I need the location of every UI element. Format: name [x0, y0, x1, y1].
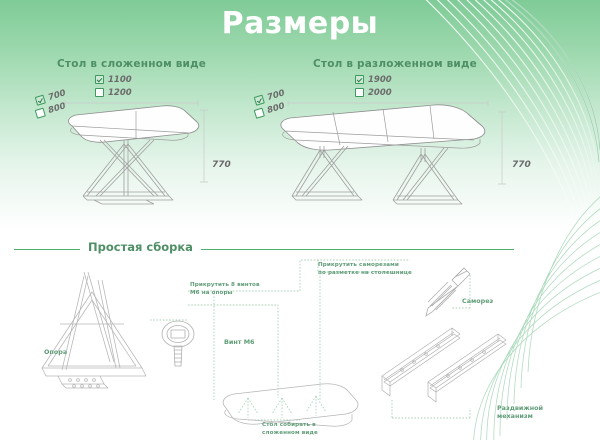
- note-self-tapping: Прикрутить саморезамипо разметке на стол…: [318, 261, 412, 277]
- option-row[interactable]: 1100: [95, 74, 132, 85]
- option-value: 1900: [368, 75, 392, 85]
- checkbox-unchecked-icon[interactable]: [95, 88, 104, 97]
- panel-heading-folded: Стол в сложенном виде: [57, 58, 206, 70]
- option-value: 2000: [368, 88, 392, 98]
- option-row[interactable]: 2000: [355, 87, 392, 98]
- panel-heading-unfolded: Стол в разложенном виде: [313, 58, 477, 70]
- option-row[interactable]: 1200: [95, 87, 132, 98]
- option-row[interactable]: 1900: [355, 74, 392, 85]
- option-value: 1100: [108, 75, 132, 85]
- note-screws: Прикрутить 8 винтовМ6 на опоры: [190, 281, 260, 297]
- width-options-unfolded[interactable]: 1900 2000: [355, 74, 392, 100]
- checkbox-unchecked-icon[interactable]: [355, 88, 364, 97]
- table-drawing-unfolded: [258, 100, 520, 210]
- part-label-bolt: Винт М6: [224, 338, 255, 346]
- note-fold-warning: Стол собирать всложенном виде: [262, 421, 318, 437]
- checkbox-checked-icon[interactable]: [95, 75, 104, 84]
- table-drawing-folded: [50, 100, 240, 210]
- checkbox-unchecked-icon[interactable]: [35, 108, 46, 119]
- part-label-support: Опора: [44, 348, 67, 356]
- checkbox-checked-icon[interactable]: [355, 75, 364, 84]
- poster-page: Размеры Стол в сложенном виде 1100 1200 …: [0, 0, 600, 440]
- part-label-screw: Саморез: [462, 297, 493, 305]
- checkbox-checked-icon[interactable]: [35, 95, 46, 106]
- part-label-mechanism: Раздвижноймеханизм: [497, 404, 543, 420]
- option-value: 1200: [108, 88, 132, 98]
- width-options-folded[interactable]: 1100 1200: [95, 74, 132, 100]
- page-title: Размеры: [0, 6, 600, 41]
